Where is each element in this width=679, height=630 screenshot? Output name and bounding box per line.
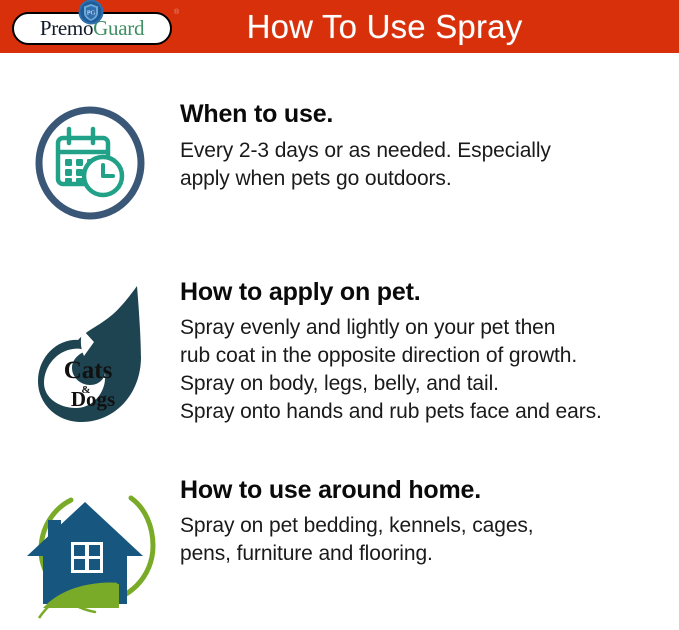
section-body-line: Spray on pet bedding, kennels, cages,	[180, 512, 671, 540]
section-how-to-apply-on-pet: Cats & Dogs How to apply on pet. Spray e…	[0, 278, 679, 426]
section-body-line: Every 2-3 days or as needed. Especially	[180, 137, 671, 165]
section-body-line: apply when pets go outdoors.	[180, 165, 671, 193]
section-body-line: pens, furniture and flooring.	[180, 540, 671, 568]
header-banner: PremoGuard PG ® How To Use Spray	[0, 0, 679, 53]
section-body-line: Spray evenly and lightly on your pet the…	[180, 314, 671, 342]
section-icon-container	[0, 100, 180, 222]
section-when-to-use: When to use. Every 2-3 days or as needed…	[0, 100, 679, 222]
section-text-container: How to use around home. Spray on pet bed…	[180, 476, 679, 568]
section-icon-container	[0, 476, 180, 625]
cats-and-dogs-icon: Cats & Dogs	[20, 282, 160, 424]
section-icon-container: Cats & Dogs	[0, 278, 180, 424]
section-how-to-use-around-home: How to use around home. Spray on pet bed…	[0, 476, 679, 625]
section-body: Spray evenly and lightly on your pet the…	[180, 314, 671, 426]
section-body-line: Spray onto hands and rub pets face and e…	[180, 398, 671, 426]
section-body: Every 2-3 days or as needed. Especially …	[180, 137, 671, 193]
calendar-clock-icon	[31, 104, 149, 222]
cats-label: Cats	[64, 357, 113, 384]
dogs-label: Dogs	[71, 387, 115, 411]
section-heading: How to apply on pet.	[180, 278, 671, 306]
house-leaf-icon	[19, 480, 161, 625]
section-text-container: How to apply on pet. Spray evenly and li…	[180, 278, 679, 426]
section-text-container: When to use. Every 2-3 days or as needed…	[180, 100, 679, 193]
section-body: Spray on pet bedding, kennels, cages, pe…	[180, 512, 671, 568]
section-body-line: rub coat in the opposite direction of gr…	[180, 342, 671, 370]
page-title: How To Use Spray	[0, 0, 679, 53]
section-body-line: Spray on body, legs, belly, and tail.	[180, 370, 671, 398]
section-heading: When to use.	[180, 100, 671, 128]
section-heading: How to use around home.	[180, 476, 671, 504]
